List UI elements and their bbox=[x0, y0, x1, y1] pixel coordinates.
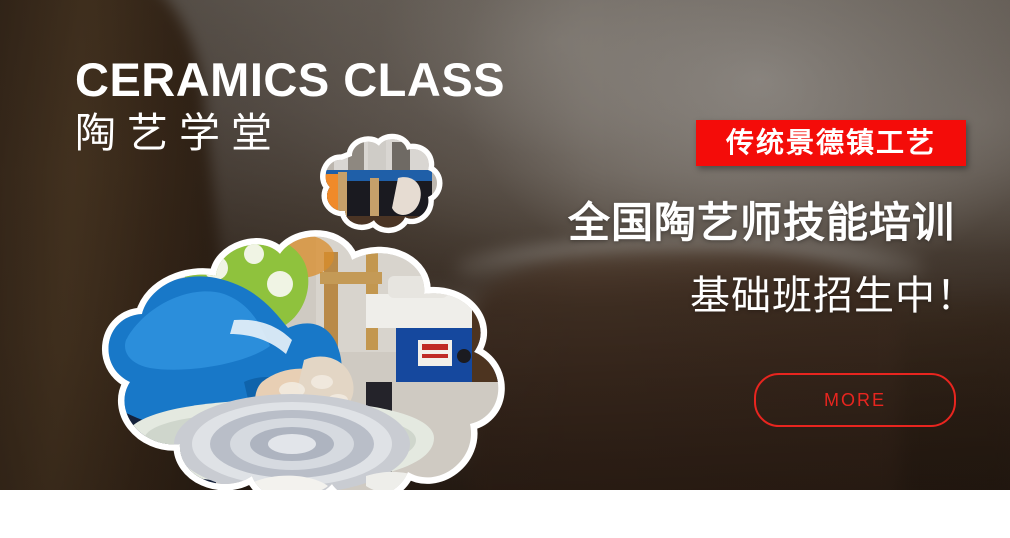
bottom-white-strip bbox=[0, 490, 1010, 538]
more-button[interactable]: MORE bbox=[754, 373, 956, 427]
status-badge: 传统景德镇工艺 bbox=[696, 120, 966, 166]
child-at-pottery-wheel-photo bbox=[66, 232, 536, 510]
headline-block: CERAMICS CLASS 陶艺学堂 bbox=[75, 55, 545, 157]
more-button-label: MORE bbox=[824, 391, 886, 409]
badge-label: 传统景德镇工艺 bbox=[726, 129, 936, 157]
pottery-tools-shelf-photo bbox=[312, 134, 444, 240]
headline-english: CERAMICS CLASS bbox=[75, 55, 545, 104]
subheading-line-1: 全国陶艺师技能培训 bbox=[568, 199, 955, 247]
headline-chinese: 陶艺学堂 bbox=[75, 110, 545, 157]
ceramics-class-banner: CERAMICS CLASS 陶艺学堂 bbox=[0, 0, 1010, 538]
child-at-pottery-wheel-image bbox=[66, 232, 536, 510]
subheading-line-2: 基础班招生中！ bbox=[690, 273, 977, 319]
